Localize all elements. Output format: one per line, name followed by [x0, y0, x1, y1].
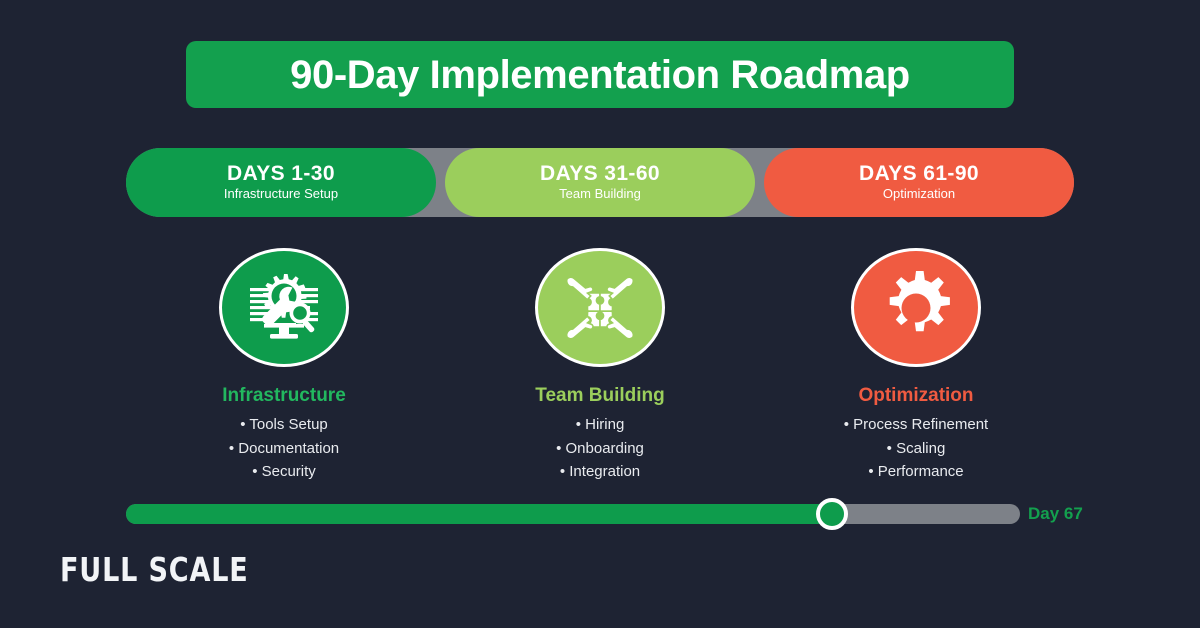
- phase-days-label: DAYS 61-90: [859, 163, 979, 185]
- list-item: • Onboarding: [556, 440, 644, 457]
- list-item: • Scaling: [887, 440, 946, 457]
- list-item: • Security: [252, 463, 316, 480]
- infographic-canvas: 90-Day Implementation Roadmap DAYS 1-30 …: [0, 0, 1200, 628]
- phase-pill-days-61-90[interactable]: DAYS 61-90 Optimization: [764, 148, 1074, 217]
- list-item: • Documentation: [229, 440, 339, 457]
- column-optimization: Optimization • Process Refinement • Scal…: [758, 248, 1074, 480]
- list-item: • Tools Setup: [240, 416, 328, 433]
- list-item: • Performance: [868, 463, 963, 480]
- page-title: 90-Day Implementation Roadmap: [290, 55, 910, 95]
- column-team-building: Team Building • Hiring • Onboarding • In…: [442, 248, 758, 480]
- list-item: • Integration: [560, 463, 640, 480]
- phase-days-label: DAYS 31-60: [540, 163, 660, 185]
- teamwork-puzzle-hands-icon: [535, 248, 665, 367]
- progress-handle[interactable]: [816, 498, 848, 530]
- column-title: Infrastructure: [222, 386, 346, 405]
- phase-pill-row: DAYS 1-30 Infrastructure Setup DAYS 31-6…: [126, 148, 1074, 217]
- progress-bar[interactable]: [126, 504, 1020, 524]
- phase-subtitle-label: Infrastructure Setup: [224, 187, 338, 201]
- phase-subtitle-label: Team Building: [559, 187, 641, 201]
- phase-subtitle-label: Optimization: [883, 187, 955, 201]
- column-title: Team Building: [535, 386, 664, 405]
- full-scale-logo: FULL SCALE: [60, 553, 249, 586]
- title-banner: 90-Day Implementation Roadmap: [186, 41, 1014, 108]
- phase-pill-days-31-60[interactable]: DAYS 31-60 Team Building: [445, 148, 755, 217]
- infrastructure-tools-icon: [219, 248, 349, 367]
- phase-detail-columns: Infrastructure • Tools Setup • Documenta…: [126, 248, 1074, 480]
- column-title: Optimization: [858, 386, 973, 405]
- column-infrastructure: Infrastructure • Tools Setup • Documenta…: [126, 248, 442, 480]
- progress-fill: [126, 504, 832, 524]
- list-item: • Process Refinement: [844, 416, 988, 433]
- list-item: • Hiring: [576, 416, 625, 433]
- column-bullet-list: • Hiring • Onboarding • Integration: [556, 416, 644, 480]
- phase-days-label: DAYS 1-30: [227, 163, 335, 185]
- column-bullet-list: • Process Refinement • Scaling • Perform…: [844, 416, 988, 480]
- progress-day-label: Day 67: [1028, 505, 1083, 523]
- column-bullet-list: • Tools Setup • Documentation • Security: [229, 416, 339, 480]
- phase-pill-days-1-30[interactable]: DAYS 1-30 Infrastructure Setup: [126, 148, 436, 217]
- gear-icon: [851, 248, 981, 367]
